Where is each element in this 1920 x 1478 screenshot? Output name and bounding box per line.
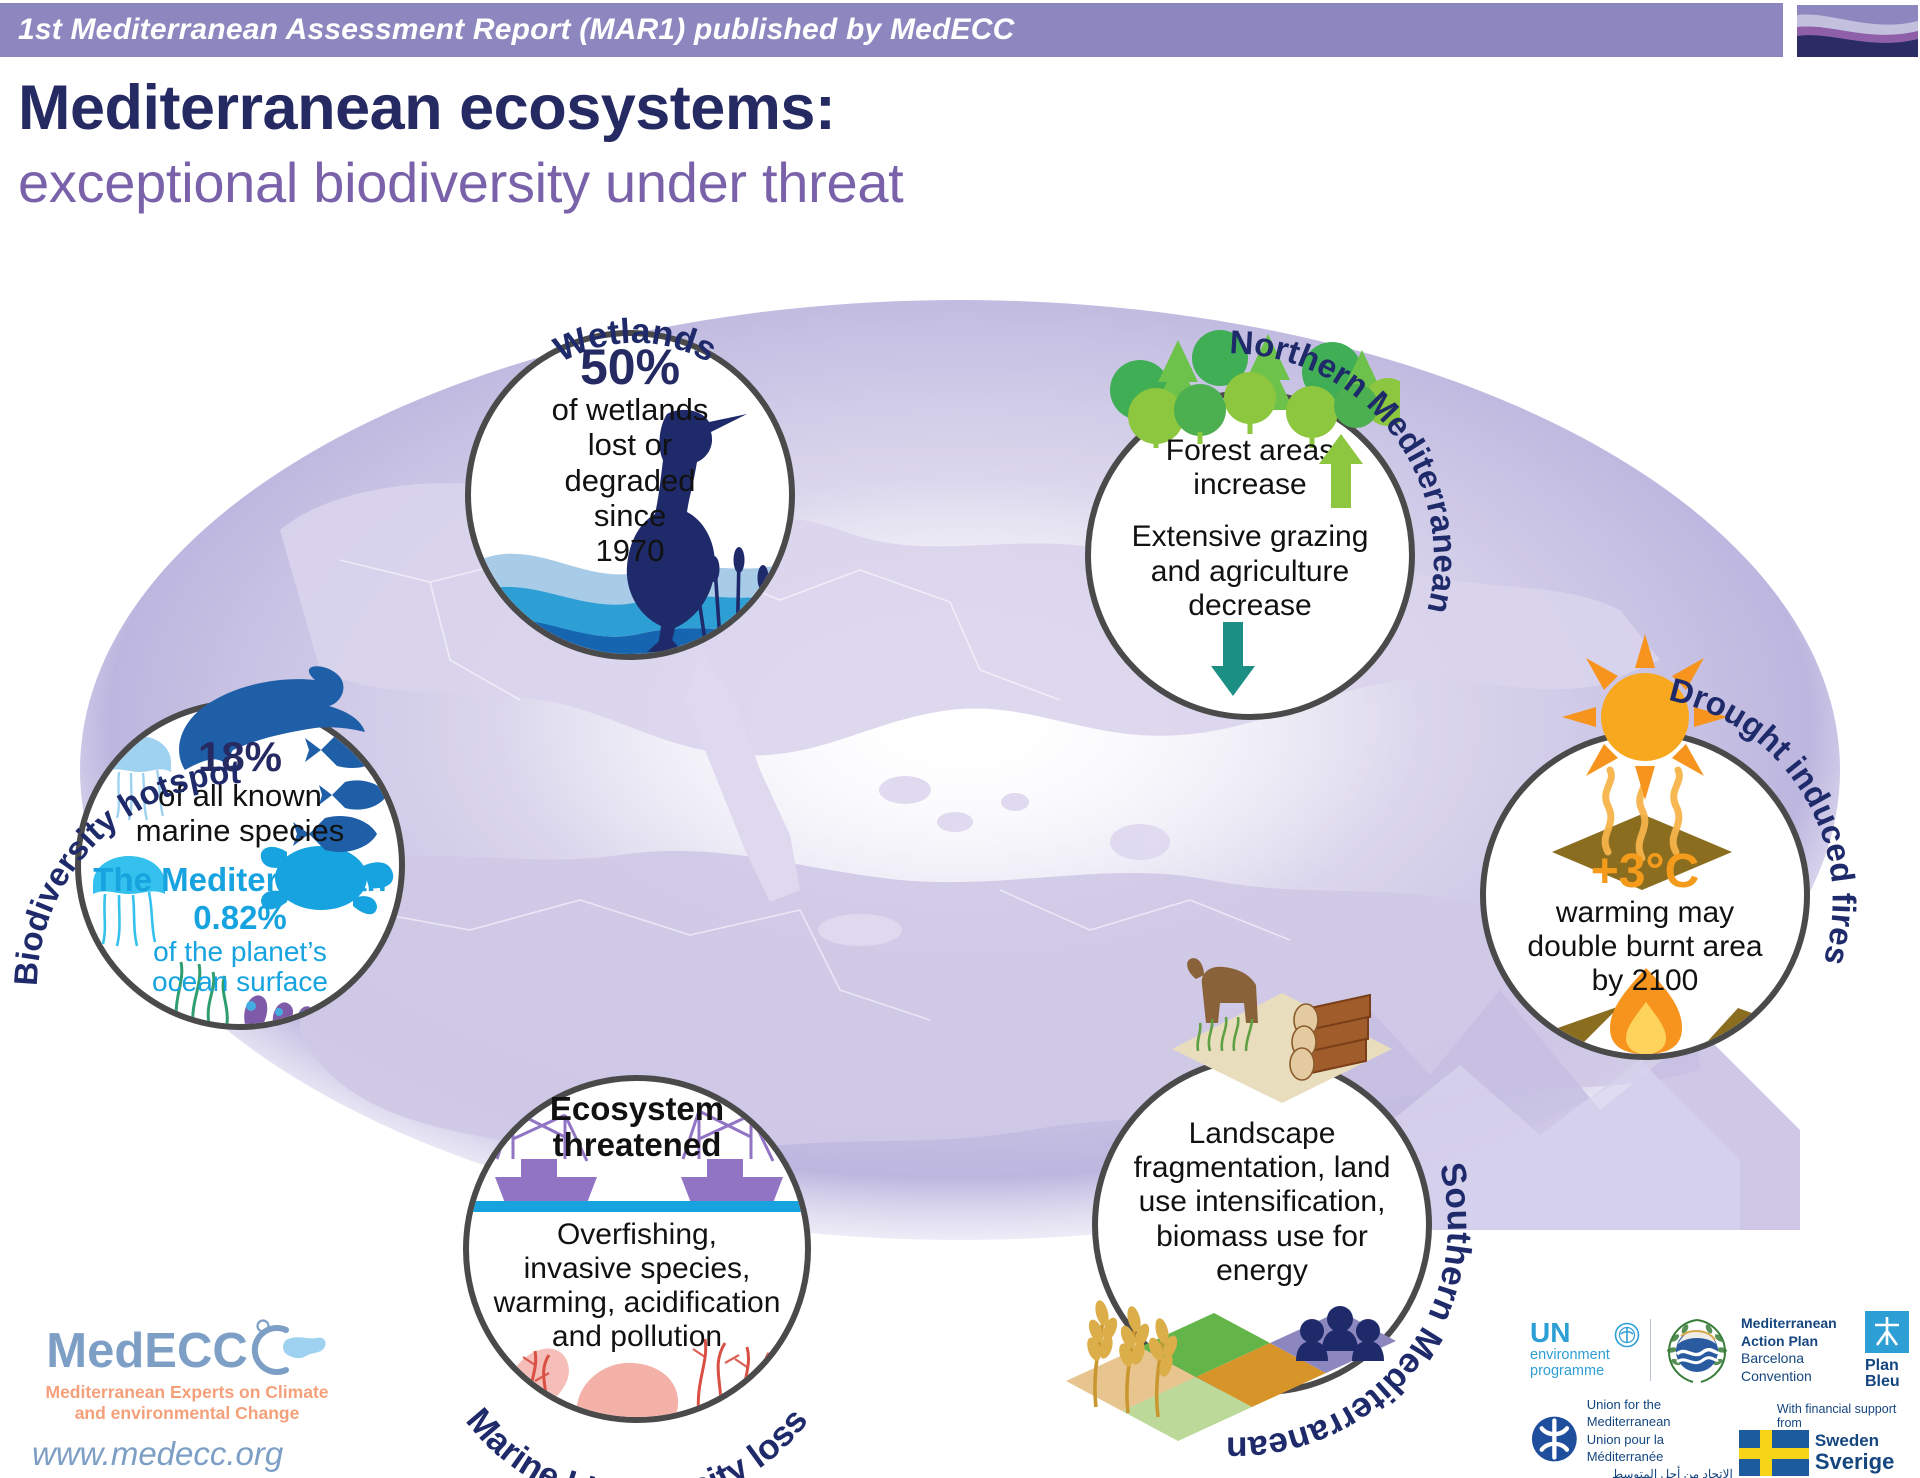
- sun-icon: [1560, 632, 1730, 802]
- jellyfish-icon-2: [93, 856, 165, 946]
- ufm-line3: الاتحاد من أجل المتوسط: [1587, 1466, 1733, 1478]
- ufm-line1: Union for the Mediterranean: [1587, 1396, 1733, 1431]
- flame-icon: [1610, 968, 1682, 1054]
- un-line3: programme: [1530, 1363, 1610, 1380]
- plan-bleu-mark-icon: [1865, 1311, 1909, 1353]
- report-banner: 1st Mediterranean Assessment Report (MAR…: [0, 3, 1783, 57]
- down-arrow-icon: [1211, 622, 1255, 696]
- node-wetlands[interactable]: 50% of wetlands lost or degraded since 1…: [465, 330, 795, 660]
- partner-logos: UN environment programme: [1530, 1302, 1920, 1478]
- map-barcelona-emblem-icon: [1661, 1314, 1733, 1386]
- dolphin-icon: [137, 658, 367, 778]
- corner-wave-decoration: [1795, 3, 1920, 59]
- up-arrow-icon: [1319, 434, 1363, 508]
- node-southern-mediterranean[interactable]: Landscape fragmentation, land use intens…: [1092, 1055, 1432, 1395]
- un-emblem-icon: [1614, 1322, 1640, 1348]
- ufm-text: Union for the Mediterranean Union pour l…: [1587, 1396, 1733, 1478]
- un-line1: UN: [1530, 1320, 1610, 1347]
- plan-bleu-line1: Plan: [1865, 1358, 1913, 1374]
- marine-loss-illustration: [469, 1081, 805, 1417]
- ufm-emblem-icon: [1530, 1414, 1579, 1464]
- sweden-flag-icon: [1739, 1430, 1809, 1476]
- page-subtitle: exceptional biodiversity under threat: [18, 150, 903, 215]
- cattle-logs-tile-icon: [1154, 953, 1404, 1103]
- logo-divider: [1650, 1319, 1651, 1381]
- seagrass-icon: [176, 962, 313, 1024]
- node-marine-loss[interactable]: Ecosystem threatened Overfishing, invasi…: [463, 1075, 811, 1423]
- map-line2: Action Plan: [1741, 1333, 1859, 1351]
- node-northern-mediterranean[interactable]: Forest areas increase Extensive grazing …: [1085, 390, 1415, 720]
- marine-loss-disc: [463, 1075, 811, 1423]
- banner-text: 1st Mediterranean Assessment Report (MAR…: [0, 13, 1014, 47]
- plan-bleu-logo[interactable]: Plan Bleu: [1865, 1311, 1913, 1390]
- logs-icon: [1290, 995, 1370, 1080]
- page-title: Mediterranean ecosystems:: [18, 72, 835, 144]
- un-environment-logo[interactable]: UN environment programme: [1530, 1320, 1640, 1380]
- medecc-mark-icon: [242, 1318, 328, 1380]
- map-line4: Convention: [1741, 1368, 1859, 1386]
- medecc-url[interactable]: www.medecc.org: [22, 1435, 352, 1473]
- medecc-tagline-2: and environmental Change: [22, 1403, 352, 1424]
- medecc-wordmark: MedECC: [46, 1323, 247, 1379]
- wetlands-disc: [465, 330, 795, 660]
- cattle-icon: [1187, 958, 1258, 1023]
- sweden-line2: Sverige: [1815, 1450, 1895, 1474]
- node-biodiversity-hotspot[interactable]: 18% of all known marine species The Medi…: [75, 700, 405, 1030]
- ufm-line2: Union pour la Méditerranée: [1587, 1431, 1733, 1466]
- sweden-line1: Sweden: [1815, 1432, 1895, 1451]
- wetlands-illustration: [471, 336, 789, 654]
- medecc-logo[interactable]: MedECC Mediterranean Experts on Climate …: [22, 1322, 352, 1472]
- map-line3: Barcelona: [1741, 1350, 1859, 1368]
- infographic-canvas: 1st Mediterranean Assessment Report (MAR…: [0, 0, 1920, 1478]
- un-line2: environment: [1530, 1347, 1610, 1364]
- sweden-support-logo: With financial support from Sweden Sveri…: [1739, 1402, 1920, 1476]
- fishing-boat-icon-2: [681, 1111, 783, 1203]
- sea-line-icon: [469, 1201, 805, 1212]
- map-barcelona-text: Mediterranean Action Plan Barcelona Conv…: [1741, 1315, 1859, 1385]
- map-line1: Mediterranean: [1741, 1315, 1859, 1333]
- turtle-icon: [261, 846, 393, 914]
- coral-reef-icon: [503, 1339, 785, 1417]
- farmland-tiles-icon: [1044, 1273, 1404, 1443]
- node-drought-fires[interactable]: +3°C warming may double burnt area by 21…: [1480, 730, 1810, 1060]
- forest-icon: [1100, 310, 1400, 450]
- medecc-tagline-1: Mediterranean Experts on Climate: [22, 1382, 352, 1403]
- fishing-boat-icon: [495, 1111, 597, 1203]
- sweden-support-text: With financial support from: [1777, 1402, 1920, 1430]
- plan-bleu-line2: Bleu: [1865, 1374, 1913, 1390]
